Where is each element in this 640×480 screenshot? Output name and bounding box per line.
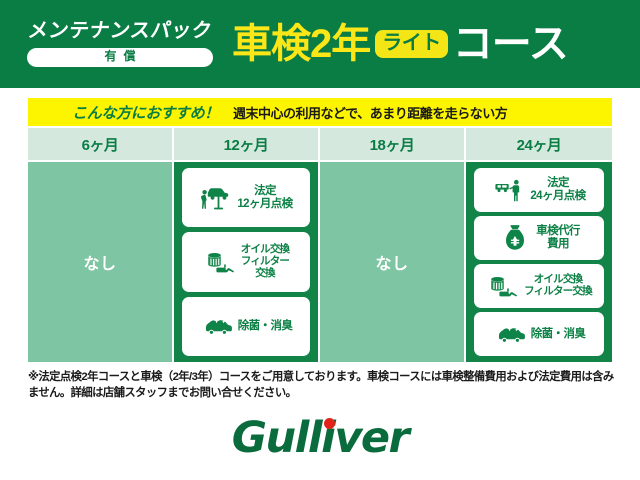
oil-filter-change-icon <box>203 247 237 277</box>
plan-column-24months: 24ヶ月 <box>466 128 612 362</box>
none-label-18months: なし <box>375 250 408 274</box>
car-inspection-person-icon <box>492 175 526 205</box>
light-badge: ライト <box>375 30 448 58</box>
header-banner: メンテナンスパック 有償 車検2年 ライト コース <box>0 0 640 88</box>
plan-column-6months: 6ヶ月 なし <box>28 128 174 362</box>
plan-column-12months: 12ヶ月 法定 12ヶ月点検 <box>174 128 320 362</box>
recommendation-bar: こんな方におすすめ！ 週末中心の利用などで、あまり距離を走らない方 <box>28 98 612 126</box>
car-sanitize-icon <box>493 319 527 349</box>
disclaimer-text: ※法定点検2年コースと車検（2年/3年）コースをご用意しております。車検コースに… <box>28 369 618 401</box>
column-body-6months: なし <box>28 162 172 362</box>
brand-logo-area: Gulliver <box>0 417 640 460</box>
column-header-6months: 6ヶ月 <box>28 128 172 162</box>
service-card-oil-filter-change-12[interactable]: オイル交換 フィルター 交換 <box>182 232 310 291</box>
service-card-label: 除菌・消臭 <box>531 328 586 341</box>
money-bag-yen-icon <box>498 223 532 253</box>
maintenance-pack-title: メンテナンスパック <box>27 21 214 41</box>
course-word: コース <box>453 24 568 64</box>
service-card-statutory-12month-inspection[interactable]: 法定 12ヶ月点検 <box>182 168 310 227</box>
service-card-statutory-24month-inspection[interactable]: 法定 24ヶ月点検 <box>474 168 604 212</box>
gulliver-logo-dot <box>324 418 335 429</box>
service-card-label: オイル交換 フィルター 交換 <box>241 244 290 279</box>
none-label-6months: なし <box>83 250 116 274</box>
service-card-sanitize-deodorize-12[interactable]: 除菌・消臭 <box>182 297 310 356</box>
service-card-inspection-agency-fee[interactable]: 車検代行 費用 <box>474 216 604 260</box>
course-title-block: 車検2年 ライト コース <box>232 24 568 64</box>
car-on-lift-inspection-icon <box>199 183 233 213</box>
service-card-label: オイル交換 フィルター交換 <box>524 274 592 298</box>
service-card-sanitize-deodorize-24[interactable]: 除菌・消臭 <box>474 312 604 356</box>
plan-table: 6ヶ月 なし 12ヶ月 <box>28 128 612 362</box>
service-card-oil-filter-change-24[interactable]: オイル交換 フィルター交換 <box>474 264 604 308</box>
service-card-label: 法定 12ヶ月点検 <box>237 185 292 211</box>
column-body-12months: 法定 12ヶ月点検 <box>174 162 318 362</box>
car-sanitize-icon <box>200 311 234 341</box>
service-card-label: 除菌・消臭 <box>238 320 293 333</box>
column-body-18months: なし <box>320 162 464 362</box>
gulliver-logo-text: Gulliver <box>232 413 409 463</box>
service-card-label: 法定 24ヶ月点検 <box>530 177 585 203</box>
recommendation-lead: こんな方におすすめ！ <box>72 102 219 123</box>
shaken-2year-title: 車検2年 <box>232 24 370 64</box>
maintenance-pack-block: メンテナンスパック 有償 <box>14 21 226 67</box>
oil-filter-change-icon <box>486 271 520 301</box>
service-card-label: 車検代行 費用 <box>536 225 580 251</box>
column-header-18months: 18ヶ月 <box>320 128 464 162</box>
column-header-24months: 24ヶ月 <box>466 128 612 162</box>
column-header-12months: 12ヶ月 <box>174 128 318 162</box>
content-wrapper: こんな方におすすめ！ 週末中心の利用などで、あまり距離を走らない方 6ヶ月 なし… <box>0 98 640 401</box>
column-body-24months: 法定 24ヶ月点検 車検代行 費用 <box>466 162 612 362</box>
recommendation-description: 週末中心の利用などで、あまり距離を走らない方 <box>233 103 507 122</box>
gulliver-logo: Gulliver <box>232 417 409 460</box>
plan-column-18months: 18ヶ月 なし <box>320 128 466 362</box>
paid-badge: 有償 <box>27 48 213 67</box>
